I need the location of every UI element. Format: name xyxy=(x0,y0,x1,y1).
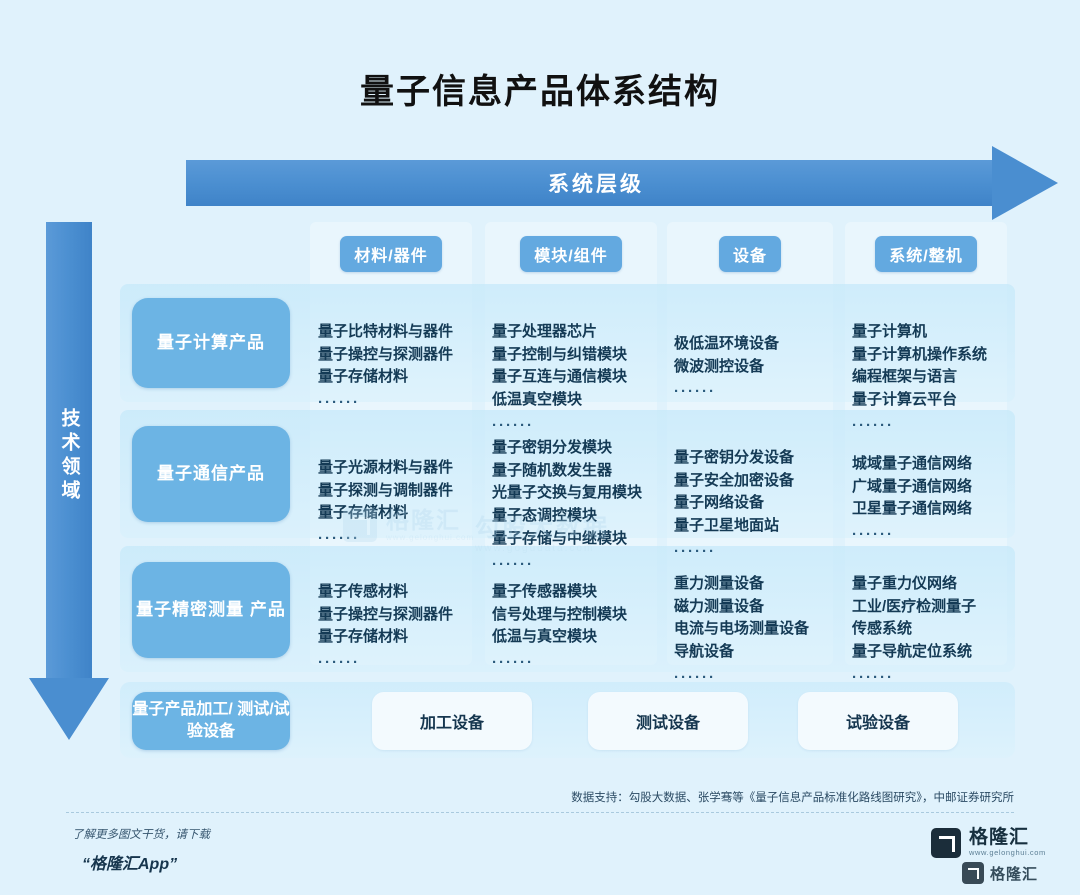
cell-items: 城域量子通信网络 广域量子通信网络 卫星量子通信网络 xyxy=(852,455,972,518)
infographic-canvas: 量子信息产品体系结构 系统层级 技术领域 材料/器件 模块/组件 设备 xyxy=(0,0,1080,895)
brand-url: www.gelonghui.com xyxy=(969,849,1046,857)
bottom-box-trial-equipment: 试验设备 xyxy=(798,692,958,750)
source-note: 数据支持：勾股大数据、张学骞等《量子信息产品标准化路线图研究》，中邮证券研究所 xyxy=(0,789,1014,805)
row-label-computing: 量子计算产品 xyxy=(132,298,290,388)
cell-items: 重力测量设备 磁力测量设备 电流与电场测量设备 导航设备 xyxy=(674,575,809,660)
cell-communication-materials: 量子光源材料与器件 量子探测与调制器件 量子存储材料 ······ xyxy=(318,434,480,574)
brand-logo-secondary: 格隆汇 xyxy=(962,862,1038,884)
system-level-axis-label: 系统层级 xyxy=(186,160,1006,206)
column-header-modules: 模块/组件 xyxy=(485,232,657,276)
column-header-label: 材料/器件 xyxy=(340,236,441,272)
cell-more: ······ xyxy=(318,389,480,415)
cell-items: 量子重力仪网络 工业/医疗检测量子 传感系统 量子导航定位系统 xyxy=(852,575,976,660)
bottom-box-testing-equipment: 测试设备 xyxy=(588,692,748,750)
gelonghui-logo-icon xyxy=(931,828,961,858)
cell-items: 极低温环境设备 微波测控设备 xyxy=(674,335,779,375)
row-label-communication: 量子通信产品 xyxy=(132,426,290,522)
cell-items: 量子计算机 量子计算机操作系统 编程框架与语言 量子计算云平台 xyxy=(852,323,987,408)
brand-logo: 格隆汇 www.gelonghui.com xyxy=(931,828,1046,858)
bottom-box-processing-equipment: 加工设备 xyxy=(372,692,532,750)
column-header-label: 设备 xyxy=(719,236,781,272)
cell-items: 量子传感材料 量子操控与探测器件 量子存储材料 xyxy=(318,583,453,646)
system-level-axis-arrow: 系统层级 xyxy=(186,157,1058,209)
cell-items: 量子密钥分发模块 量子随机数发生器 光量子交换与复用模块 量子态调控模块 量子存… xyxy=(492,439,642,547)
footer-divider xyxy=(66,812,1014,813)
brand-name: 格隆汇 xyxy=(969,828,1046,849)
cell-items: 量子传感器模块 信号处理与控制模块 低温与真空模块 xyxy=(492,583,627,646)
cell-communication-systems: 城域量子通信网络 广域量子通信网络 卫星量子通信网络 ······ xyxy=(852,430,1024,570)
cell-items: 量子处理器芯片 量子控制与纠错模块 量子互连与通信模块 低温真空模块 xyxy=(492,323,627,408)
cell-items: 量子密钥分发设备 量子安全加密设备 量子网络设备 量子卫星地面站 xyxy=(674,449,794,534)
row-label-processing: 量子产品加工/ 测试/试验设备 xyxy=(132,692,290,750)
app-promo-line2: “格隆汇App” xyxy=(82,850,210,874)
technology-domain-axis-arrow: 技术领域 xyxy=(36,222,102,742)
cell-metrology-modules: 量子传感器模块 信号处理与控制模块 低温与真空模块 ······ xyxy=(492,558,672,698)
cell-more: ······ xyxy=(852,521,1024,547)
column-header-label: 系统/整机 xyxy=(875,236,976,272)
matrix-grid: 材料/器件 模块/组件 设备 系统/整机 量子计算产品 量子通信产品 量子精密测… xyxy=(120,222,1015,742)
app-promo: 了解更多图文干货，请下载 “格隆汇App” xyxy=(72,826,210,874)
brand-name-secondary: 格隆汇 xyxy=(990,863,1038,884)
cell-items: 量子光源材料与器件 量子探测与调制器件 量子存储材料 xyxy=(318,459,453,522)
cell-more: ······ xyxy=(674,378,840,404)
cell-computing-materials: 量子比特材料与器件 量子操控与探测器件 量子存储材料 ······ xyxy=(318,298,480,438)
cell-computing-devices: 极低温环境设备 微波测控设备 ······ xyxy=(674,310,840,427)
app-promo-line1: 了解更多图文干货，请下载 xyxy=(72,826,210,842)
column-header-devices: 设备 xyxy=(667,232,833,276)
cell-metrology-materials: 量子传感材料 量子操控与探测器件 量子存储材料 ······ xyxy=(318,558,480,698)
column-header-materials: 材料/器件 xyxy=(310,232,472,276)
cell-items: 量子比特材料与器件 量子操控与探测器件 量子存储材料 xyxy=(318,323,453,386)
technology-domain-axis-label: 技术领域 xyxy=(46,222,92,690)
column-header-label: 模块/组件 xyxy=(520,236,621,272)
cell-more: ······ xyxy=(318,525,480,551)
row-label-metrology: 量子精密测量 产品 xyxy=(132,562,290,658)
gelonghui-logo-icon xyxy=(962,862,984,884)
cell-more: ······ xyxy=(492,649,672,675)
page-title: 量子信息产品体系结构 xyxy=(0,64,1080,113)
cell-more: ······ xyxy=(318,649,480,675)
column-header-systems: 系统/整机 xyxy=(845,232,1007,276)
